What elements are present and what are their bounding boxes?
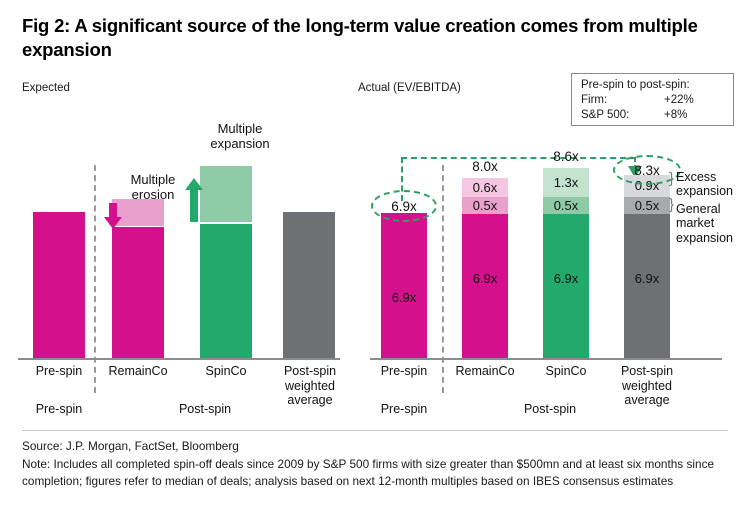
- bar-right-remainco-base: [462, 214, 508, 358]
- group-label-left-prespin: Pre-spin: [24, 402, 94, 416]
- bar-right-spinco: 1.3x 0.5x 6.9x 8.6x: [543, 168, 589, 358]
- bar-right-prespin-base-label: 6.9x: [381, 291, 427, 304]
- bar-right-postspin-base: [624, 214, 670, 358]
- x-axis-right: [370, 358, 722, 360]
- bar-right-spinco-base-label: 6.9x: [543, 272, 589, 285]
- tick-left-remainco: RemainCo: [100, 364, 176, 379]
- figure-root: Fig 2: A significant source of the long-…: [0, 0, 751, 525]
- bar-left-spinco: [200, 166, 252, 358]
- bar-right-postspin: 0.9x 0.5x 6.9x: [624, 175, 670, 358]
- annotation-general-market-expansion: General market expansion: [676, 202, 750, 245]
- bubble-prespin-label: 6.9x: [391, 199, 417, 214]
- tick-left-postspin: Post-spin weighted average: [272, 364, 348, 408]
- footnote-divider: [22, 430, 728, 431]
- legend-value-sp500: +8%: [664, 108, 687, 123]
- bar-left-prespin-base: [33, 212, 85, 358]
- bar-right-remainco: 0.6x 0.5x 6.9x 8.0x: [462, 178, 508, 358]
- annotation-excess-expansion: Excess expansion: [676, 170, 750, 199]
- bar-right-remainco-base-label: 6.9x: [462, 272, 508, 285]
- callout-dash-horizontal: [401, 157, 636, 159]
- group-label-right-prespin: Pre-spin: [369, 402, 439, 416]
- legend-row-firm: Firm: +22%: [572, 93, 733, 108]
- left-panel-label: Expected: [22, 82, 70, 94]
- legend-key-firm: Firm:: [581, 93, 607, 108]
- x-axis-left: [18, 358, 340, 360]
- callout-multiple-erosion: Multiple erosion: [110, 173, 196, 203]
- bar-right-spinco-base: [543, 214, 589, 358]
- bar-left-postspin: [283, 212, 335, 358]
- bar-right-spinco-general-label: 0.5x: [543, 199, 589, 212]
- page-title: Fig 2: A significant source of the long-…: [22, 14, 722, 61]
- bar-right-postspin-general-label: 0.5x: [624, 199, 670, 212]
- legend-box: Pre-spin to post-spin: Firm: +22% S&P 50…: [571, 73, 734, 126]
- bar-left-spinco-expansion: [200, 166, 252, 222]
- bar-left-spinco-base: [200, 224, 252, 358]
- arrow-up-icon: [185, 178, 203, 222]
- tick-left-prespin: Pre-spin: [24, 364, 94, 379]
- footnote-source: Source: J.P. Morgan, FactSet, Bloomberg: [22, 438, 734, 455]
- bar-left-postspin-base: [283, 212, 335, 358]
- arrow-down-icon: [104, 203, 122, 229]
- group-label-left-postspin: Post-spin: [160, 402, 250, 416]
- legend-value-firm: +22%: [664, 93, 694, 108]
- right-panel-label: Actual (EV/EBITDA): [358, 82, 461, 94]
- legend-title: Pre-spin to post-spin:: [572, 78, 733, 93]
- footnote-note: Note: Includes all completed spin-off de…: [22, 456, 734, 490]
- bar-right-spinco-total-label: 8.6x: [543, 149, 589, 164]
- bar-left-prespin: [33, 212, 85, 358]
- bar-left-remainco-base: [112, 227, 164, 358]
- legend-key-sp500: S&P 500:: [581, 108, 629, 123]
- tick-right-spinco: SpinCo: [530, 364, 602, 379]
- bar-right-remainco-excess-label: 0.6x: [462, 181, 508, 194]
- bar-right-spinco-excess-label: 1.3x: [543, 176, 589, 189]
- legend-row-sp500: S&P 500: +8%: [572, 108, 733, 123]
- bar-right-remainco-total-label: 8.0x: [462, 159, 508, 174]
- bubble-prespin: 6.9x: [371, 190, 437, 222]
- brace-excess-icon: }: [669, 171, 674, 186]
- brace-general-icon: }: [669, 197, 674, 212]
- bar-right-remainco-general-label: 0.5x: [462, 199, 508, 212]
- tick-right-remainco: RemainCo: [447, 364, 523, 379]
- bar-right-prespin-base: [381, 213, 427, 358]
- bar-right-postspin-base-label: 6.9x: [624, 272, 670, 285]
- bar-right-prespin: 6.9x: [381, 213, 427, 358]
- tick-left-spinco: SpinCo: [190, 364, 262, 379]
- tick-right-postspin: Post-spin weighted average: [612, 364, 682, 408]
- callout-multiple-expansion: Multiple expansion: [188, 122, 292, 152]
- bubble-postspin-label: 8.3x: [634, 163, 660, 178]
- tick-right-prespin: Pre-spin: [369, 364, 439, 379]
- group-label-right-postspin: Post-spin: [505, 402, 595, 416]
